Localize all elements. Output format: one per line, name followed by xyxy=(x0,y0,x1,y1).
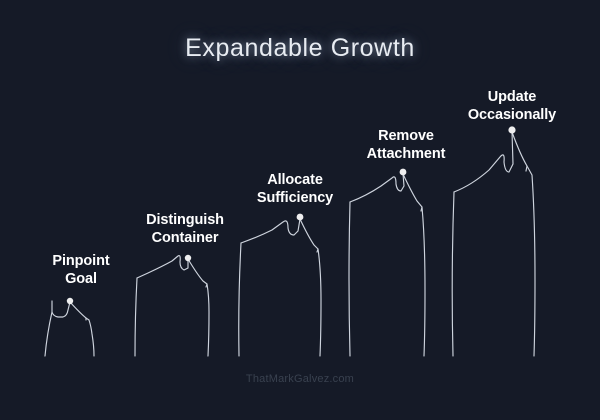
peak-shape-2 xyxy=(135,255,209,356)
peak-shape-5 xyxy=(452,126,535,356)
bar-label-2-line1: Distinguish xyxy=(146,211,224,229)
bar-label-1-line1: Pinpoint xyxy=(52,252,109,270)
bar-label-4-line1: Remove xyxy=(367,127,446,145)
bar-label-4: Remove Attachment xyxy=(367,127,446,163)
growth-peaks-illustration xyxy=(0,0,600,420)
peak-shape-1 xyxy=(45,298,94,356)
bar-label-1: Pinpoint Goal xyxy=(52,252,109,288)
peak-shape-4 xyxy=(349,169,425,356)
bar-label-5: Update Occasionally xyxy=(468,88,556,124)
bar-label-2: Distinguish Container xyxy=(146,211,224,247)
apex-node-2 xyxy=(185,255,191,261)
slide-canvas: Expandable Growth Pinpoint Goal Distingu… xyxy=(0,0,600,420)
apex-node-5 xyxy=(508,126,515,133)
bar-label-1-line2: Goal xyxy=(52,270,109,288)
bar-label-3-line2: Sufficiency xyxy=(257,189,333,207)
peak-shape-3 xyxy=(239,214,321,356)
apex-node-1 xyxy=(67,298,73,304)
apex-node-3 xyxy=(297,214,304,221)
bar-label-3-line1: Allocate xyxy=(257,171,333,189)
bar-label-4-line2: Attachment xyxy=(367,145,446,163)
bar-label-5-line2: Occasionally xyxy=(468,106,556,124)
watermark: ThatMarkGalvez.com xyxy=(0,373,600,385)
page-title: Expandable Growth xyxy=(0,34,600,63)
bar-label-2-line2: Container xyxy=(146,229,224,247)
apex-node-4 xyxy=(400,169,407,176)
bar-label-3: Allocate Sufficiency xyxy=(257,171,333,207)
bar-label-5-line1: Update xyxy=(468,88,556,106)
